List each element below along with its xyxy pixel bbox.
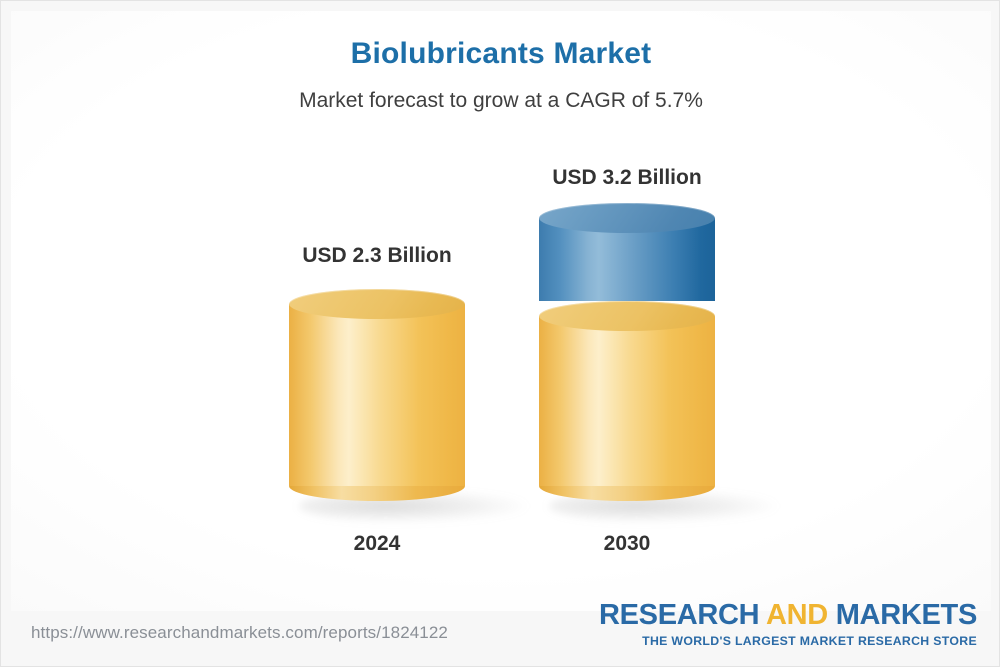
source-url[interactable]: https://www.researchandmarkets.com/repor… (31, 623, 448, 643)
cylinder-top-cap-2024 (289, 289, 465, 319)
value-label-2030: USD 3.2 Billion (477, 166, 777, 190)
cylinder-base-segment-2030 (539, 301, 715, 501)
category-label-2030: 2030 (477, 532, 777, 556)
brand-logo-research: RESEARCH (599, 599, 759, 631)
cylinder-chart: USD 2.3 Billion 2024 USD 3.2 Billion (1, 1, 1000, 601)
infographic-card: Biolubricants Market Market forecast to … (0, 0, 1000, 667)
brand-logo: RESEARCH AND MARKETS THE WORLD'S LARGEST… (599, 601, 977, 647)
cylinder-base-body-2030 (539, 316, 715, 486)
cylinder-growth-segment-2030 (539, 203, 715, 301)
cylinder-growth-top-cap-2030 (539, 203, 715, 233)
brand-logo-wordmark: RESEARCH AND MARKETS (599, 601, 977, 630)
cylinder-base-top-cap-2030 (539, 301, 715, 331)
cylinder-2024 (289, 289, 465, 501)
brand-logo-tagline: THE WORLD'S LARGEST MARKET RESEARCH STOR… (599, 635, 977, 647)
brand-logo-markets: MARKETS (836, 599, 977, 631)
cylinder-body-2024 (289, 304, 465, 486)
chart-column-2030: USD 3.2 Billion 2030 (477, 1, 777, 601)
brand-logo-and: AND (759, 599, 835, 631)
